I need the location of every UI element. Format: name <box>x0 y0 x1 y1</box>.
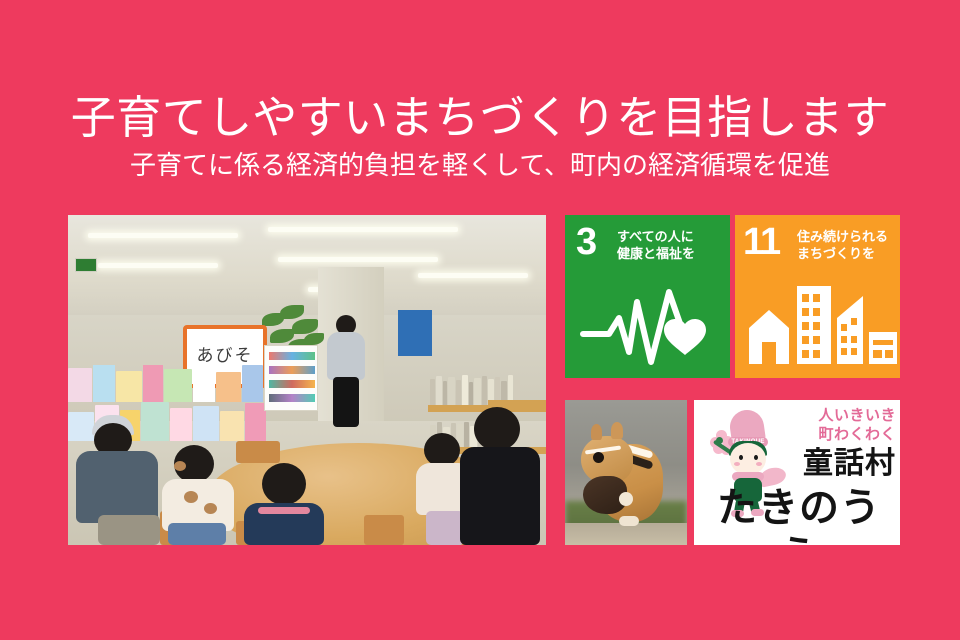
chipmunk-ear <box>591 424 602 440</box>
page-title: 子育てしやすいまちづくりを目指します <box>0 92 960 144</box>
sdg-badge-3[interactable]: 3 すべての人に 健康と福祉を <box>565 215 730 378</box>
library-photo: あびそ <box>68 215 546 545</box>
chipmunk-ear <box>611 422 623 439</box>
mascot-cheek <box>756 462 762 466</box>
chair <box>236 441 280 463</box>
mascot-cheek <box>734 462 740 466</box>
library-sign-text: あびそ <box>187 341 263 366</box>
chipmunk-feet <box>619 516 639 526</box>
chair <box>364 515 404 545</box>
wall-poster <box>398 310 432 356</box>
takinoue-logo[interactable]: TAKINOUE 人いきいき 町わくわく 童話村 たきのうえ <box>694 400 900 545</box>
logo-slogan: 人いきいき 町わくわく <box>780 406 896 444</box>
ceiling-light <box>268 227 458 232</box>
sdg-number: 3 <box>576 223 597 261</box>
seated-adult-left <box>76 415 168 545</box>
exit-sign-icon <box>75 258 97 272</box>
sdg-badge-11[interactable]: 11 住み続けられる まちづくりを <box>735 215 900 378</box>
alphabet-poster <box>264 345 318 411</box>
standing-staff <box>323 315 369 427</box>
logo-village-name: 童話村 <box>790 448 896 480</box>
mascot-eye <box>754 455 758 460</box>
chipmunk-paw <box>619 492 633 506</box>
sdg-label: すべての人に 健康と福祉を <box>617 228 695 262</box>
ceiling-light <box>98 263 218 268</box>
cityscape-icon <box>735 278 900 370</box>
headline-block: 子育てしやすいまちづくりを目指します 子育てに係る経済的負担を軽くして、町内の経… <box>0 92 960 182</box>
heartbeat-icon <box>565 278 730 370</box>
logo-town-name: たきのうえ <box>704 484 894 545</box>
mascot-eye <box>739 455 743 460</box>
chipmunk-eye <box>593 452 604 463</box>
gravel-ground <box>565 523 687 545</box>
ceiling-light <box>88 233 238 238</box>
ceiling-light <box>418 273 528 278</box>
chipmunk-photo <box>565 400 687 545</box>
ceiling-light <box>278 257 438 262</box>
page-subtitle: 子育てに係る経済的負担を軽くして、町内の経済循環を促進 <box>0 148 960 182</box>
sdg-number: 11 <box>743 223 779 261</box>
sdg-label: 住み続けられる まちづくりを <box>797 228 888 262</box>
seated-child-2 <box>244 463 326 545</box>
seated-adult-right <box>458 407 544 545</box>
seated-child-1 <box>160 445 238 545</box>
mascot-face <box>730 443 766 475</box>
shelf <box>488 400 546 406</box>
